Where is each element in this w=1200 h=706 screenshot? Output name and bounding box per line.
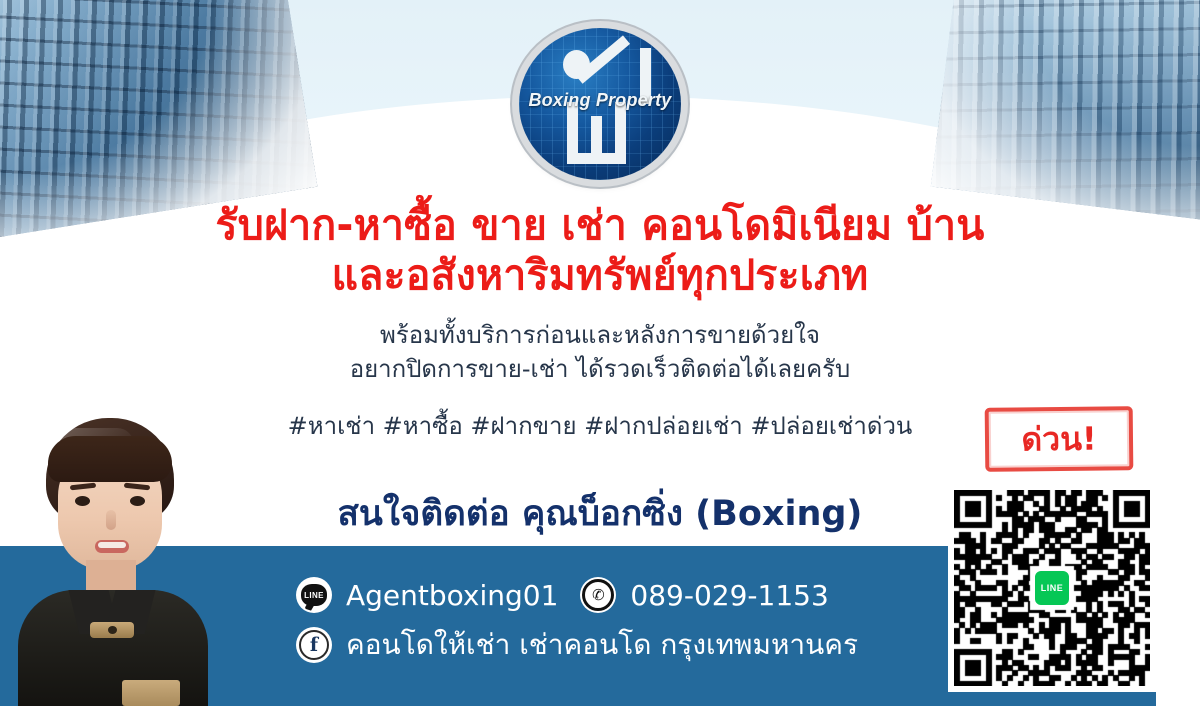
urgent-stamp-badge: ด่วน!	[985, 406, 1134, 472]
contact-row-facebook: f คอนโดให้เช่า เช่าคอนโด กรุงเทพมหานคร	[296, 620, 858, 670]
agent-mouth	[95, 540, 129, 553]
line-qr-code[interactable]: LINE	[954, 490, 1150, 686]
agent-fringe	[48, 436, 172, 482]
facebook-icon[interactable]: f	[296, 627, 332, 663]
line-icon[interactable]: LINE	[296, 577, 332, 613]
brand-logo: Boxing Property	[519, 28, 681, 180]
headline-line-1: รับฝาก-หาซื้อ ขาย เช่า คอนโดมิเนียม บ้าน	[0, 200, 1200, 250]
facebook-glyph: f	[299, 630, 329, 660]
footer-right-notch	[1156, 546, 1200, 706]
line-id-value[interactable]: Agentboxing01	[346, 579, 558, 612]
subheadline-line-1: พร้อมทั้งบริการก่อนและหลังการขายด้วยใจ	[0, 318, 1200, 352]
phone-number-value[interactable]: 089-029-1153	[630, 579, 828, 612]
facebook-page-value[interactable]: คอนโดให้เช่า เช่าคอนโด กรุงเทพมหานคร	[346, 623, 858, 667]
logo-base-icon	[567, 153, 626, 164]
subheadline-line-2: อยากปิดการขาย-เช่า ได้รวดเร็วติดต่อได้เล…	[0, 352, 1200, 386]
phone-glyph: ✆	[582, 579, 614, 611]
contact-row-line-phone: LINE Agentboxing01 ✆ 089-029-1153	[296, 570, 858, 620]
agent-nose	[106, 510, 116, 530]
building-fade	[931, 0, 1200, 222]
line-badge-icon: LINE	[1032, 568, 1072, 608]
skyscraper-photo-right	[931, 0, 1200, 222]
line-badge-label: LINE	[1041, 583, 1064, 593]
logo-text: Boxing Property	[519, 90, 681, 111]
qr-panel: LINE	[948, 484, 1156, 692]
agent-eye-left	[75, 496, 90, 506]
subheadline: พร้อมทั้งบริการก่อนและหลังการขายด้วยใจ อ…	[0, 318, 1200, 386]
line-icon-label: LINE	[304, 591, 324, 600]
promo-poster: Boxing Property รับฝาก-หาซื้อ ขาย เช่า ค…	[0, 0, 1200, 706]
agent-name-badge	[122, 680, 180, 706]
footer-contact-list: LINE Agentboxing01 ✆ 089-029-1153 f คอนโ…	[296, 570, 858, 670]
phone-icon[interactable]: ✆	[580, 577, 616, 613]
page-title: รับฝาก-หาซื้อ ขาย เช่า คอนโดมิเนียม บ้าน…	[0, 200, 1200, 300]
agent-collar-clasp	[90, 622, 134, 638]
urgent-stamp-label: ด่วน!	[1021, 423, 1097, 456]
agent-eye-right	[130, 496, 145, 506]
agent-portrait-photo	[10, 418, 215, 706]
headline-line-2: และอสังหาริมทรัพย์ทุกประเภท	[0, 250, 1200, 300]
